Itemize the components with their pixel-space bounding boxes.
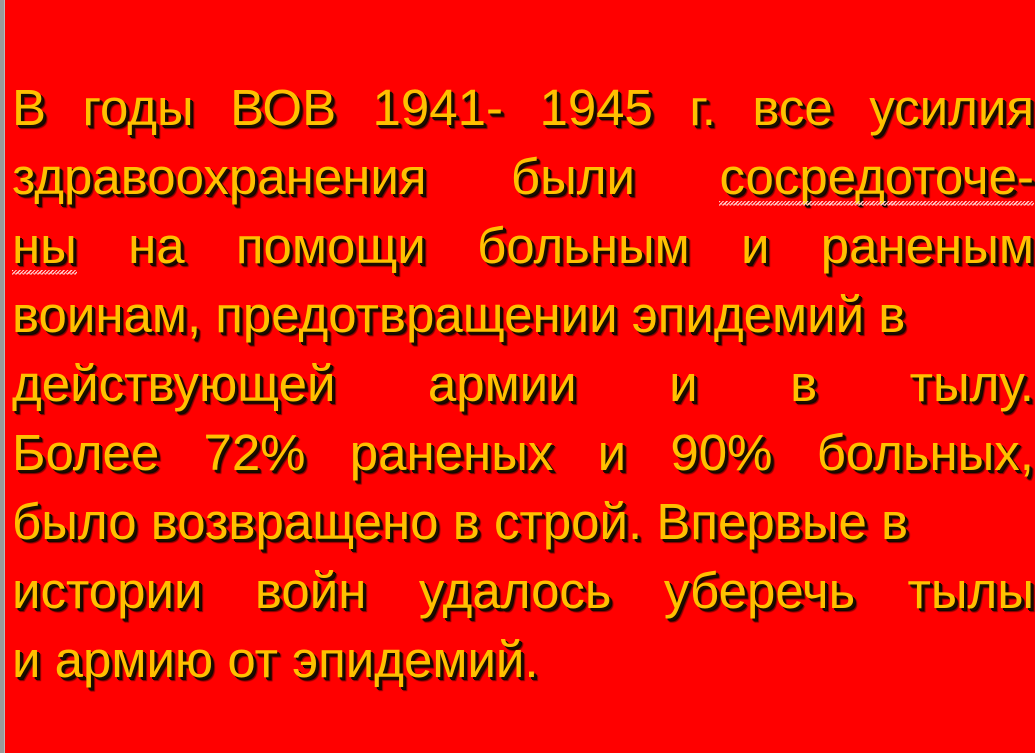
text-line-7: было возвращено в строй. Впервые в [12,487,1034,556]
word: 72% [203,418,305,487]
word: были [511,142,635,211]
text-line-2: здравоохранения были сосредоточе- [12,142,1034,211]
text-line-6: Более 72% раненых и 90% больных, [12,418,1034,487]
word: действующей [12,349,335,418]
slide-canvas: В годы ВОВ 1941- 1945 г. все усилия здра… [0,0,1035,753]
word: на [128,211,185,280]
word: раненым [821,211,1034,280]
word: раненых [350,418,554,487]
word: 90% [670,418,772,487]
word: тылу. [910,349,1034,418]
text-line-3: ны на помощи больным и раненым [12,211,1034,280]
word: годы [82,73,193,142]
word-misspelled: ны [12,211,77,280]
word: Более [12,418,159,487]
text-line-9: и армию от эпидемий. [12,625,1034,694]
word: и [741,211,770,280]
word: тылы [908,556,1034,625]
word: удалось [419,556,612,625]
text-line-1: В годы ВОВ 1941- 1945 г. все усилия [12,73,1034,142]
word: и [598,418,627,487]
slide-text-block: В годы ВОВ 1941- 1945 г. все усилия здра… [8,73,1035,694]
word: войн [255,556,367,625]
word: ВОВ [230,73,336,142]
word: г. [689,73,716,142]
left-gutter-strip [0,0,5,753]
word: здравоохранения [12,142,426,211]
word: больным [477,211,690,280]
word: помощи [236,211,426,280]
word: 1941- [373,73,503,142]
word-misspelled: сосредоточе- [719,142,1034,211]
word: больных, [817,418,1034,487]
word: все [752,73,832,142]
text-line-4: воинам, предотвращении эпидемий в [12,280,1034,349]
word: и [669,349,698,418]
text-line-5: действующей армии и в тылу. [12,349,1034,418]
text-line-8: истории войн удалось уберечь тылы [12,556,1034,625]
word: усилия [869,73,1034,142]
word: 1945 [539,73,652,142]
word: истории [12,556,202,625]
word: армии [428,349,577,418]
word: в [790,349,817,418]
word: уберечь [664,556,855,625]
word: В [12,73,46,142]
